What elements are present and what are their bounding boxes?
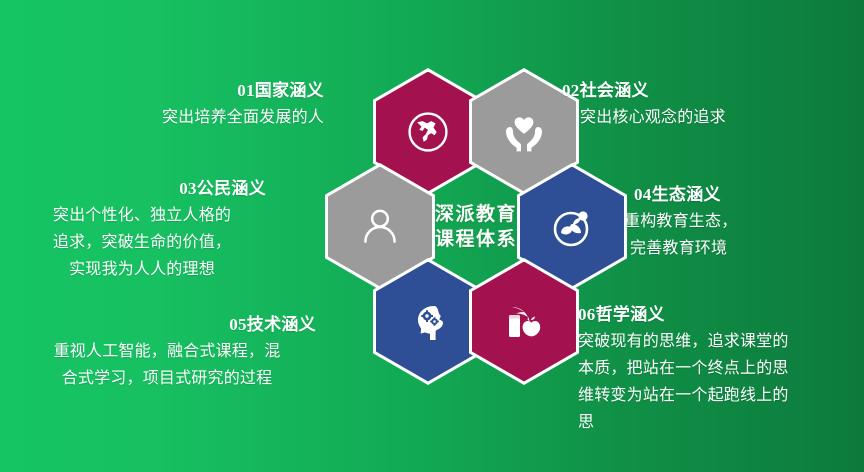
block-04-line-1: 重构教育生态， bbox=[624, 208, 858, 235]
text-block-02: 02社会涵义 突出核心观念的追求 bbox=[562, 78, 858, 131]
block-01-line-1: 突出培养全面发展的人 bbox=[6, 104, 324, 131]
person-icon bbox=[355, 202, 405, 252]
text-block-06: 06哲学涵义 突破现有的思维，追求课堂的 本质，把站在一个终点上的思 维转变为站… bbox=[578, 302, 862, 436]
block-04-heading: 04生态涵义 bbox=[624, 182, 858, 208]
leaf-circle-icon bbox=[545, 200, 599, 254]
heart-in-hands-icon bbox=[497, 107, 551, 157]
text-block-04: 04生态涵义 重构教育生态， 完善教育环境 bbox=[624, 182, 858, 262]
block-06-line-4: 思 bbox=[578, 409, 862, 436]
block-06-heading: 06哲学涵义 bbox=[578, 302, 862, 328]
text-block-05: 05技术涵义 重视人工智能，融合式课程，混 合式学习，项目式研究的过程 bbox=[2, 312, 332, 392]
block-03-line-2: 追求，突破生命的价值， bbox=[2, 229, 282, 256]
block-01-heading: 01国家涵义 bbox=[6, 78, 324, 104]
block-05-line-1: 重视人工智能，融合式课程，混 bbox=[2, 338, 332, 365]
block-03-line-1: 突出个性化、独立人格的 bbox=[2, 202, 282, 229]
block-02-line-1: 突出核心观念的追求 bbox=[562, 104, 858, 131]
text-block-01: 01国家涵义 突出培养全面发展的人 bbox=[6, 78, 324, 131]
block-06-line-1: 突破现有的思维，追求课堂的 bbox=[578, 328, 862, 355]
globe-icon bbox=[402, 106, 454, 158]
center-title: 深派教育 课程体系 bbox=[435, 202, 517, 252]
block-04-line-2: 完善教育环境 bbox=[624, 235, 858, 262]
block-06-line-2: 本质，把站在一个终点上的思 bbox=[578, 355, 862, 382]
block-05-heading: 05技术涵义 bbox=[2, 312, 332, 338]
block-03-line-3: 实现我为人人的理想 bbox=[2, 256, 282, 283]
head-gears-icon bbox=[401, 296, 455, 348]
infographic-canvas: 深派教育 课程体系 bbox=[0, 0, 864, 472]
center-title-line1: 深派教育 bbox=[435, 202, 517, 227]
book-quill-apple-icon bbox=[498, 296, 550, 348]
block-05-line-2: 合式学习，项目式研究的过程 bbox=[2, 365, 332, 392]
text-block-03: 03公民涵义 突出个性化、独立人格的 追求，突破生命的价值， 实现我为人人的理想 bbox=[2, 176, 282, 283]
center-title-line2: 课程体系 bbox=[435, 227, 517, 252]
block-03-heading: 03公民涵义 bbox=[2, 176, 282, 202]
block-02-heading: 02社会涵义 bbox=[562, 78, 858, 104]
block-06-line-3: 维转变为站在一个起跑线上的 bbox=[578, 382, 862, 409]
